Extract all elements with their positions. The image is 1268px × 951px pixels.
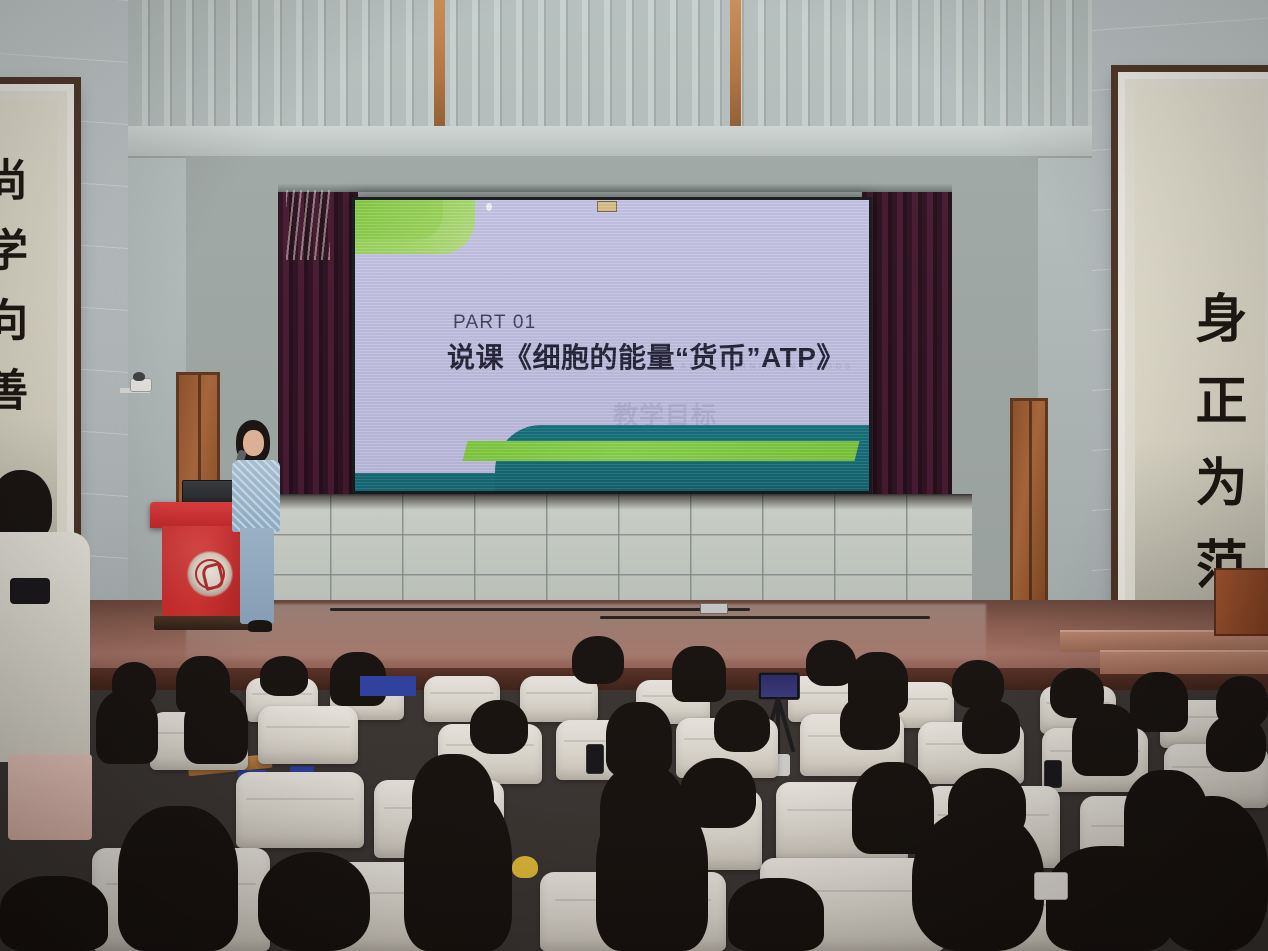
foreground-head-5 <box>596 794 708 951</box>
presenter-top <box>232 460 280 532</box>
screen-drop-shadow <box>186 494 972 510</box>
presenter-trousers <box>240 528 274 624</box>
screen-highlight-dot <box>486 203 492 211</box>
foreground-head-3 <box>258 852 370 951</box>
foreground-head-1 <box>118 806 238 951</box>
presentation-slide: TEACHING AND LEARNING METHODS 教学目标 TEACH… <box>355 200 869 491</box>
curtain-gather <box>286 190 330 260</box>
hair-clip <box>1034 872 1068 900</box>
stage-step-2 <box>1100 650 1268 674</box>
slat-accent-right <box>730 0 741 128</box>
slide-part-label: PART 01 <box>453 312 536 334</box>
stage-tile-wall <box>186 494 972 606</box>
led-screen[interactable]: TEACHING AND LEARNING METHODS 教学目标 TEACH… <box>352 197 872 494</box>
yellow-bag <box>512 856 538 878</box>
stage-floor-cable-2 <box>600 616 930 619</box>
ceiling-slat-panel <box>128 0 1092 128</box>
floor-outlet <box>700 603 728 614</box>
proscenium-lintel <box>128 126 1092 158</box>
photographer-skirt <box>8 754 92 840</box>
foreground-head-9 <box>728 878 824 951</box>
standing-photographer <box>0 470 102 890</box>
auditorium-photo: TEACHING AND LEARNING METHODS 教学目标 TEACH… <box>0 0 1268 951</box>
foreground-head-4 <box>404 786 512 951</box>
foreground-head-6 <box>912 808 1044 951</box>
slide-deco-green-corner-inner <box>355 200 443 240</box>
blue-desk-panel <box>360 676 416 696</box>
curtain-rod <box>278 184 952 192</box>
security-camera-icon <box>120 372 152 396</box>
presenter <box>224 420 288 640</box>
side-cabinet <box>1214 568 1268 636</box>
calligraphy-scroll-right: 身正为范 <box>1118 72 1268 638</box>
slat-accent-left <box>434 0 445 128</box>
presenter-shoe <box>248 620 272 632</box>
photographer-jacket <box>0 532 90 762</box>
held-phone-2 <box>1044 760 1062 788</box>
stage-right-door[interactable] <box>1010 398 1048 620</box>
photographer-camera-icon <box>10 578 50 604</box>
foreground-head-8 <box>1156 796 1268 951</box>
slide-title: 说课《细胞的能量“货币”ATP》 <box>447 336 845 376</box>
calligraphy-text-left: 尚学向善 <box>0 157 33 437</box>
stage-floor-cables <box>330 608 750 611</box>
held-phone <box>586 744 604 774</box>
screen-clip <box>597 201 617 212</box>
slide-deco-green-stripe <box>463 441 860 461</box>
